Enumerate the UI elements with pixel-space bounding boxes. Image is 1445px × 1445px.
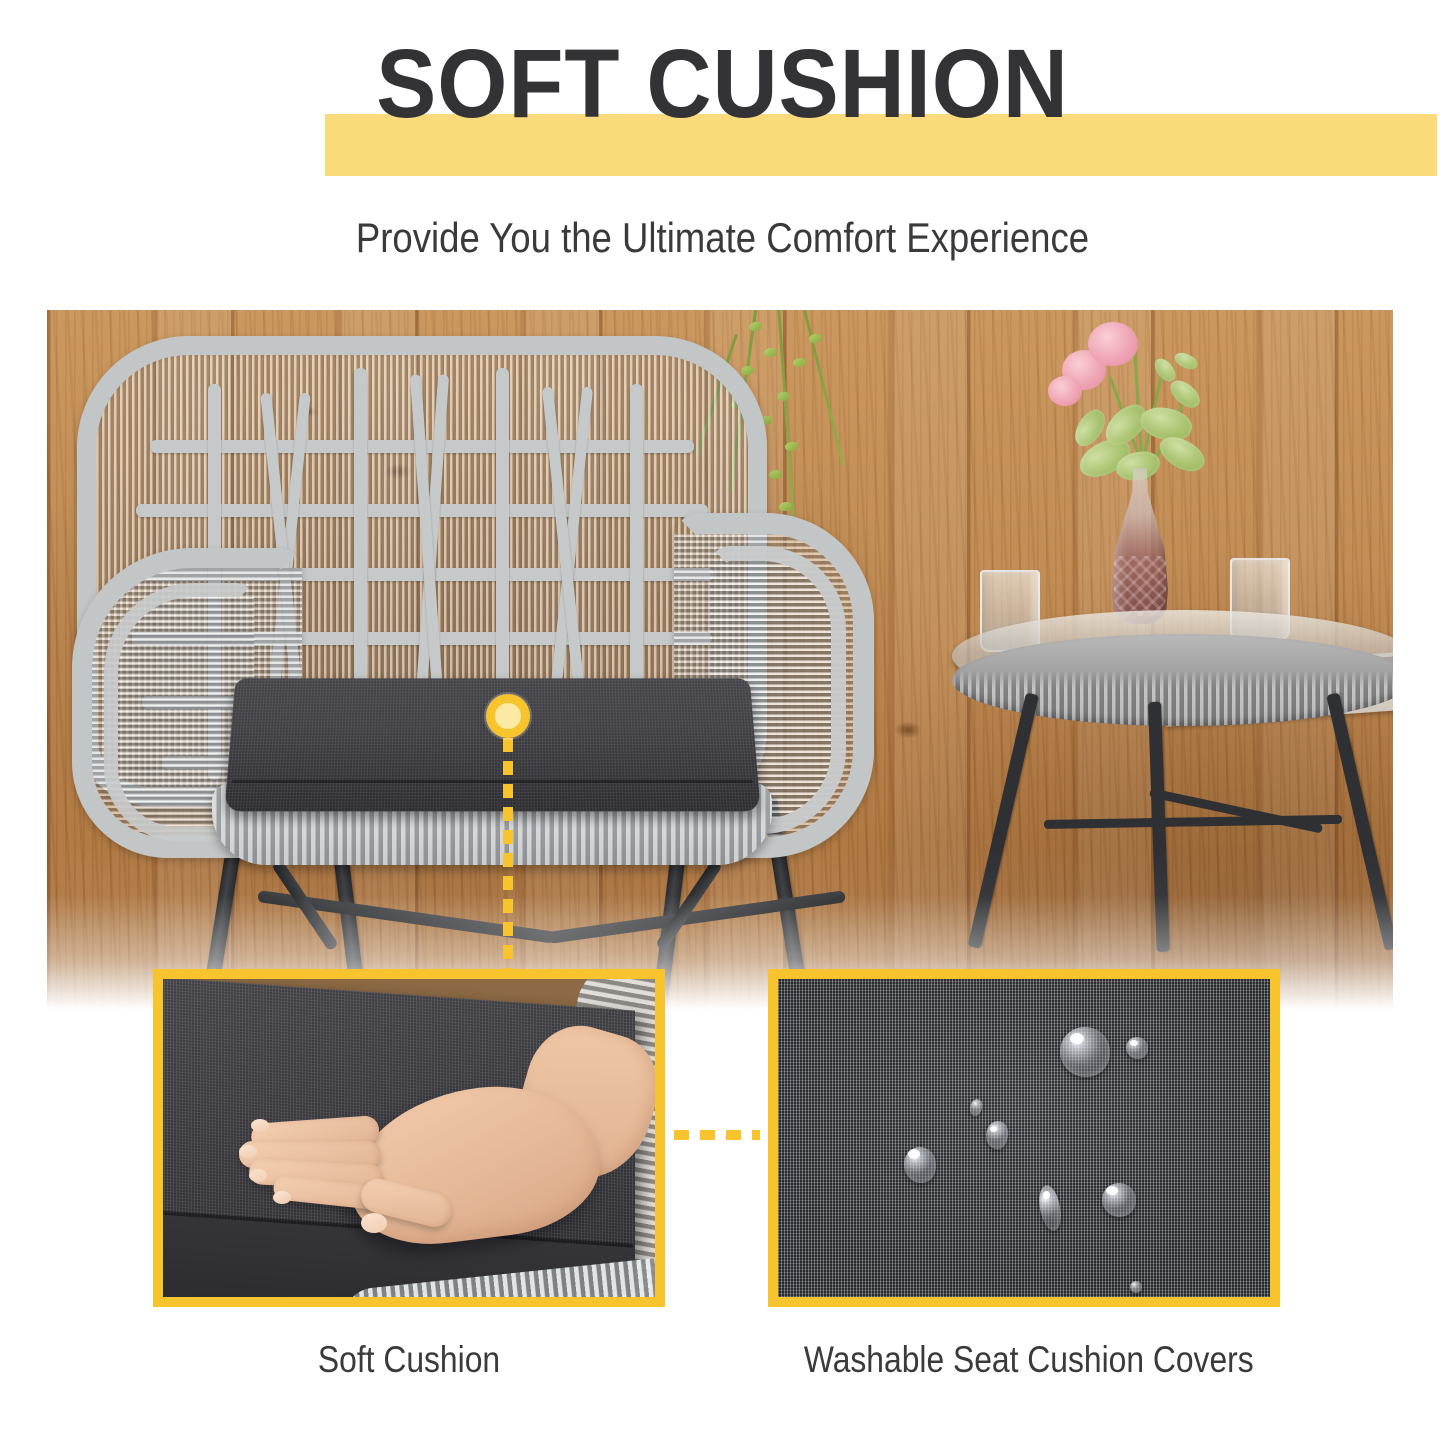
fingernail — [251, 1119, 269, 1132]
rattan-chair — [62, 328, 892, 1010]
callout-dashed-line-horizontal — [674, 1130, 760, 1140]
caption-soft-cushion: Soft Cushion — [189, 1338, 629, 1382]
droplet-highlight — [990, 1126, 997, 1132]
hero-product-photo — [47, 310, 1393, 1010]
page-subtitle: Provide You the Ultimate Comfort Experie… — [94, 212, 1351, 264]
droplet-highlight — [908, 1149, 920, 1159]
thumbnail — [361, 1213, 387, 1233]
water-droplet — [1060, 1027, 1110, 1077]
table-leg — [968, 693, 1039, 949]
vase-pattern — [1114, 556, 1166, 616]
fingernail — [239, 1145, 257, 1158]
wood-knot — [895, 722, 921, 738]
water-droplet — [1130, 1281, 1142, 1293]
callout-dashed-line-vertical — [503, 738, 513, 970]
fingernail — [249, 1169, 267, 1182]
pink-blossom — [1088, 322, 1138, 366]
page-title: SOFT CUSHION — [51, 34, 1395, 134]
cushion-seam — [232, 780, 753, 783]
side-table — [952, 598, 1393, 1010]
hand-pressing-cushion — [201, 1071, 621, 1261]
woven-fabric-surface — [778, 979, 1270, 1297]
table-rattan-rim — [952, 634, 1393, 726]
caption-washable-covers: Washable Seat Cushion Covers — [804, 1338, 1244, 1382]
droplet-highlight — [1106, 1186, 1118, 1195]
pink-blossom — [1048, 376, 1082, 406]
detail-panel-soft-cushion — [153, 969, 665, 1307]
detail-panel-washable-covers — [768, 969, 1280, 1307]
droplet-highlight — [1130, 1040, 1138, 1046]
fingernail — [273, 1191, 291, 1204]
callout-marker-dot — [486, 694, 530, 738]
droplet-highlight — [1043, 1191, 1050, 1199]
seat-cushion — [224, 678, 760, 811]
product-feature-graphic: SOFT CUSHION Provide You the Ultimate Co… — [0, 0, 1445, 1445]
droplet-highlight — [1070, 1033, 1084, 1044]
